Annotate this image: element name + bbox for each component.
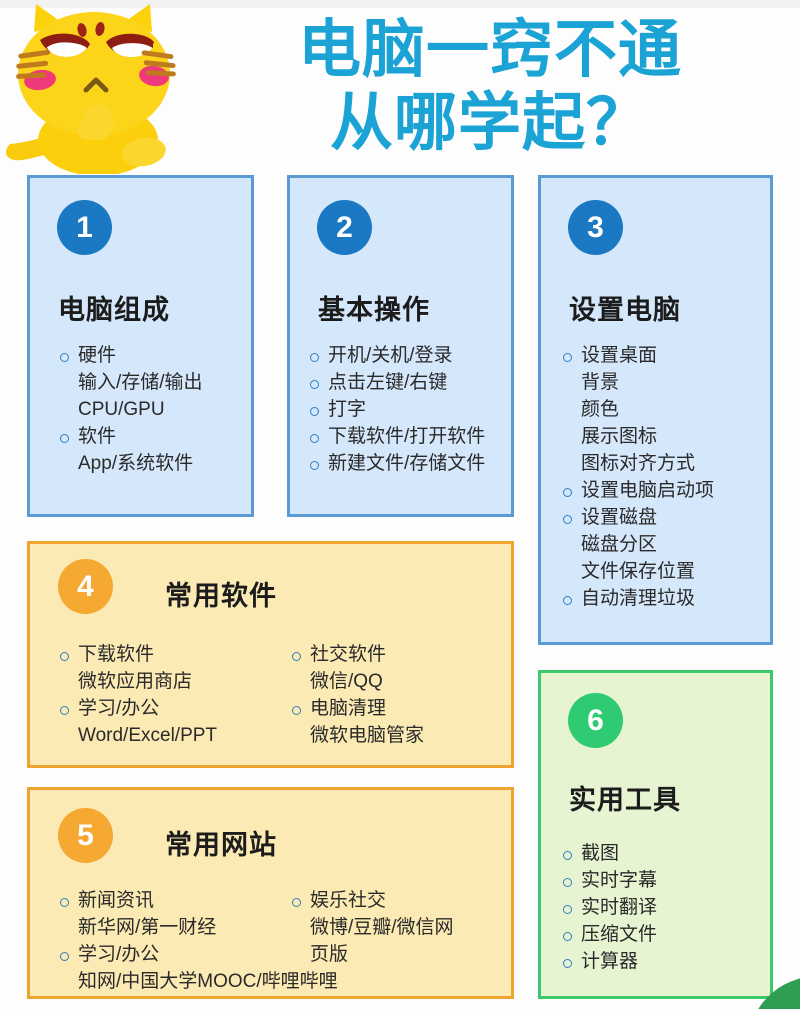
list-item[interactable]: 实时字幕 [561, 868, 657, 895]
item-label: 软件 [58, 424, 203, 451]
list-item[interactable]: 截图 [561, 841, 657, 868]
card-5-items: 新闻资讯 新华网/第一财经 学习/办公 娱乐社交 微博/豆瓣/微信网 页版 知网… [58, 888, 508, 996]
item-sub: 微信/QQ [290, 669, 520, 696]
item-label: 自动清理垃圾 [561, 586, 714, 613]
card-2-items: 开机/关机/登录 点击左键/右键 打字 下载软件/打开软件 新建文件/存储文件 [308, 343, 485, 478]
item-label: 实时字幕 [561, 868, 657, 895]
card-4-number: 4 [77, 572, 94, 602]
card-5-number: 5 [77, 821, 94, 851]
card-2-number-badge: 2 [317, 200, 372, 255]
item-sub: App/系统软件 [58, 451, 203, 478]
list-item[interactable]: 社交软件 微信/QQ [290, 642, 520, 696]
list-item[interactable]: 学习/办公 [58, 942, 290, 969]
card-5-title: 常用网站 [165, 823, 277, 862]
card-6-title: 实用工具 [569, 778, 681, 817]
card-3-number-badge: 3 [568, 200, 623, 255]
item-label: 电脑清理 [290, 696, 520, 723]
card-4-common-software[interactable]: 4 常用软件 下载软件 微软应用商店 学习/办公 Word/Excel/PPT … [27, 541, 514, 768]
card-5-common-websites[interactable]: 5 常用网站 新闻资讯 新华网/第一财经 学习/办公 娱乐社交 微博/豆瓣 [27, 787, 514, 999]
list-item[interactable]: 实时翻译 [561, 895, 657, 922]
card-1-computer-composition[interactable]: 1 电脑组成 硬件 输入/存储/输出 CPU/GPU 软件 App/系统软件 [27, 175, 254, 517]
list-item[interactable]: 硬件 输入/存储/输出 CPU/GPU [58, 343, 203, 424]
item-sub: 展示图标 [561, 424, 714, 451]
list-item[interactable]: 新闻资讯 新华网/第一财经 [58, 888, 290, 942]
card-2-title: 基本操作 [318, 288, 430, 327]
item-sub: 图标对齐方式 [561, 451, 714, 478]
list-item[interactable]: 计算器 [561, 949, 657, 976]
item-sub: 磁盘分区 [561, 532, 714, 559]
card-1-number-badge: 1 [57, 200, 112, 255]
item-sub: 微软电脑管家 [290, 723, 520, 750]
item-label: 社交软件 [290, 642, 520, 669]
title-line-2: 从哪学起？ [330, 87, 650, 160]
card-3-configure-computer[interactable]: 3 设置电脑 设置桌面 背景 颜色 展示图标 图标对齐方式 设置电脑启动项 设置… [538, 175, 773, 645]
card-6-useful-tools[interactable]: 6 实用工具 截图 实时字幕 实时翻译 压缩文件 计算器 [538, 670, 773, 999]
yellow-cat-mascot [2, 2, 188, 174]
item-label: 新闻资讯 [58, 888, 290, 915]
title-line-1: 电脑一窍不通 [298, 14, 682, 87]
card-5-number-badge: 5 [58, 808, 113, 863]
list-item[interactable]: 设置桌面 背景 颜色 展示图标 图标对齐方式 [561, 343, 714, 478]
list-item[interactable]: 下载软件 微软应用商店 [58, 642, 290, 696]
item-sub: 微博/豆瓣/微信网 [290, 915, 520, 942]
card-4-left-column: 下载软件 微软应用商店 学习/办公 Word/Excel/PPT [58, 642, 290, 750]
item-sub: 输入/存储/输出 [58, 370, 203, 397]
item-label: 设置电脑启动项 [561, 478, 714, 505]
page-title: 电脑一窍不通 从哪学起？ [186, 6, 794, 168]
card-5-left-column: 新闻资讯 新华网/第一财经 学习/办公 [58, 888, 290, 969]
item-label: 截图 [561, 841, 657, 868]
card-1-title: 电脑组成 [58, 288, 170, 327]
item-label: 计算器 [561, 949, 657, 976]
item-label: 压缩文件 [561, 922, 657, 949]
item-label: 点击左键/右键 [308, 370, 485, 397]
item-sub: CPU/GPU [58, 397, 203, 424]
item-sub: 文件保存位置 [561, 559, 714, 586]
card-6-number: 6 [587, 706, 604, 736]
item-label: 硬件 [58, 343, 203, 370]
item-label: 打字 [308, 397, 485, 424]
item-sub: Word/Excel/PPT [58, 723, 290, 750]
card-3-title: 设置电脑 [569, 288, 681, 327]
list-item[interactable]: 新建文件/存储文件 [308, 451, 485, 478]
card-5-right-column: 娱乐社交 微博/豆瓣/微信网 页版 [290, 888, 520, 969]
card-6-number-badge: 6 [568, 693, 623, 748]
card-4-title: 常用软件 [165, 574, 277, 613]
list-item[interactable]: 学习/办公 Word/Excel/PPT [58, 696, 290, 750]
item-label: 娱乐社交 [290, 888, 520, 915]
card-4-items: 下载软件 微软应用商店 学习/办公 Word/Excel/PPT 社交软件 微信… [58, 642, 498, 750]
card-1-number: 1 [76, 213, 93, 243]
list-item[interactable]: 设置电脑启动项 [561, 478, 714, 505]
card-4-number-badge: 4 [58, 559, 113, 614]
item-label: 新建文件/存储文件 [308, 451, 485, 478]
item-sub: 页版 [290, 942, 520, 969]
card-3-number: 3 [587, 213, 604, 243]
card-2-basic-operations[interactable]: 2 基本操作 开机/关机/登录 点击左键/右键 打字 下载软件/打开软件 新建文… [287, 175, 514, 517]
list-item[interactable]: 下载软件/打开软件 [308, 424, 485, 451]
list-item[interactable]: 开机/关机/登录 [308, 343, 485, 370]
item-label: 下载软件/打开软件 [308, 424, 485, 451]
item-sub: 背景 [561, 370, 714, 397]
item-label: 下载软件 [58, 642, 290, 669]
list-item[interactable]: 打字 [308, 397, 485, 424]
infographic-page: 电脑一窍不通 从哪学起？ 1 电脑组成 硬件 输入/存储/输出 CPU/GPU … [0, 0, 800, 1009]
item-label: 设置磁盘 [561, 505, 714, 532]
item-label: 实时翻译 [561, 895, 657, 922]
item-label: 学习/办公 [58, 942, 290, 969]
item-label: 开机/关机/登录 [308, 343, 485, 370]
card-2-number: 2 [336, 213, 353, 243]
card-1-items: 硬件 输入/存储/输出 CPU/GPU 软件 App/系统软件 [58, 343, 203, 478]
item-sub: 新华网/第一财经 [58, 915, 290, 942]
card-6-items: 截图 实时字幕 实时翻译 压缩文件 计算器 [561, 841, 657, 976]
list-item[interactable]: 娱乐社交 微博/豆瓣/微信网 页版 [290, 888, 520, 969]
item-sub: 微软应用商店 [58, 669, 290, 696]
card-3-items: 设置桌面 背景 颜色 展示图标 图标对齐方式 设置电脑启动项 设置磁盘 磁盘分区… [561, 343, 714, 613]
list-item[interactable]: 设置磁盘 磁盘分区 文件保存位置 [561, 505, 714, 586]
list-item[interactable]: 软件 App/系统软件 [58, 424, 203, 478]
list-item[interactable]: 压缩文件 [561, 922, 657, 949]
list-item[interactable]: 点击左键/右键 [308, 370, 485, 397]
card-4-right-column: 社交软件 微信/QQ 电脑清理 微软电脑管家 [290, 642, 520, 750]
list-item[interactable]: 自动清理垃圾 [561, 586, 714, 613]
item-label: 设置桌面 [561, 343, 714, 370]
card-5-fullspan-sub: 知网/中国大学MOOC/哔哩哔哩 [58, 969, 508, 996]
item-sub: 颜色 [561, 397, 714, 424]
list-item[interactable]: 电脑清理 微软电脑管家 [290, 696, 520, 750]
item-label: 学习/办公 [58, 696, 290, 723]
